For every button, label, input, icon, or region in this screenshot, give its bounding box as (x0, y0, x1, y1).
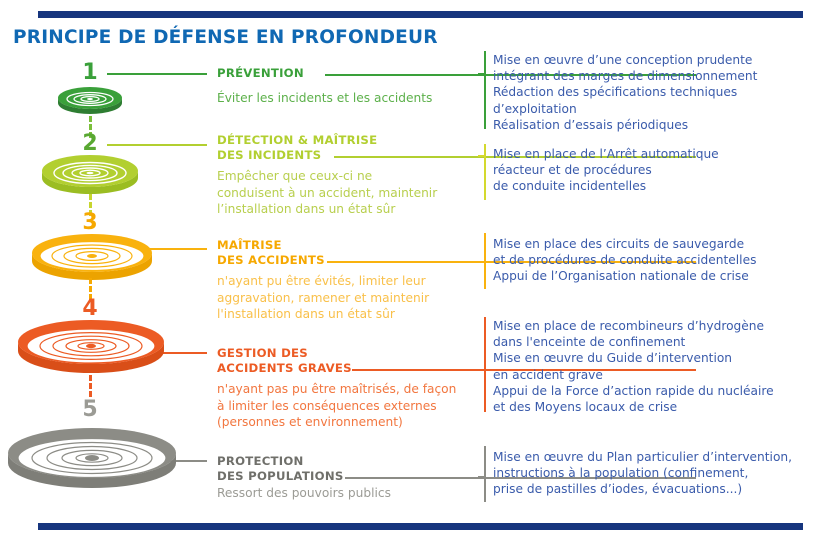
level-5-subtitle: Ressort des pouvoirs publics (217, 485, 479, 502)
level-4-lead-line (160, 352, 207, 354)
level-1-subtitle: Éviter les incidents et les accidents (217, 90, 467, 107)
level-2-heading-line1: DÉTECTION & MAÎTRISE (217, 133, 377, 147)
level-4-detail: Mise en place de recombineurs d’hydrogèn… (493, 318, 813, 415)
level-5-bracket (484, 446, 486, 502)
level-2-disc (40, 150, 140, 196)
level-1-heading-line1: PRÉVENTION (217, 66, 304, 80)
level-4-bracket-tick (478, 369, 486, 371)
level-3-heading-line1: MAÎTRISE (217, 238, 282, 252)
level-3-subtitle: n'ayant pu être évités, limiter leur agg… (217, 273, 472, 323)
level-2-heading-line2: DES INCIDENTS (217, 148, 321, 162)
level-2-detail: Mise en place de l’Arrêt automatique réa… (493, 146, 813, 195)
level-1-heading: PRÉVENTION (217, 66, 304, 81)
level-4-disc (16, 313, 166, 375)
level-5-number: 5 (70, 399, 110, 421)
level-2-subtitle: Empêcher que ceux-ci ne conduisent à un … (217, 168, 467, 218)
level-1-disc (56, 84, 124, 118)
level-1-bracket-tick (478, 73, 486, 75)
level-2-lead-line (107, 144, 207, 146)
defense-in-depth-diagram: 1 PRÉVENTION Éviter les incidents et les… (0, 0, 813, 541)
level-4-heading-line2: ACCIDENTS GRAVES (217, 361, 352, 375)
level-5-bracket-tick (478, 476, 486, 478)
level-1-lead-line (107, 73, 207, 75)
level-4-heading: GESTION DES ACCIDENTS GRAVES (217, 346, 352, 375)
level-4-to-5-connector (89, 375, 92, 397)
level-1-detail: Mise en œuvre d’une conception prudente … (493, 52, 813, 133)
level-2-bracket (484, 144, 486, 200)
level-4-bracket (484, 317, 486, 412)
level-3-bracket-tick (478, 261, 486, 263)
level-5-heading: PROTECTION DES POPULATIONS (217, 454, 344, 483)
level-2-bracket-tick (478, 155, 486, 157)
level-5-detail: Mise en œuvre du Plan particulier d’inte… (493, 449, 813, 498)
level-3-disc (30, 228, 154, 282)
level-5-heading-line1: PROTECTION (217, 454, 304, 468)
level-1-number: 1 (70, 62, 110, 84)
level-4-subtitle: n'ayant pas pu être maîtrisés, de façon … (217, 381, 479, 431)
level-3-detail: Mise en place des circuits de sauvegarde… (493, 236, 813, 285)
level-2-heading: DÉTECTION & MAÎTRISE DES INCIDENTS (217, 133, 377, 162)
level-5-heading-line2: DES POPULATIONS (217, 469, 344, 483)
level-3-heading-line2: DES ACCIDENTS (217, 253, 325, 267)
level-5-disc (6, 420, 178, 492)
level-3-heading: MAÎTRISE DES ACCIDENTS (217, 238, 325, 267)
level-1-bracket (484, 51, 486, 129)
level-4-heading-line1: GESTION DES (217, 346, 308, 360)
